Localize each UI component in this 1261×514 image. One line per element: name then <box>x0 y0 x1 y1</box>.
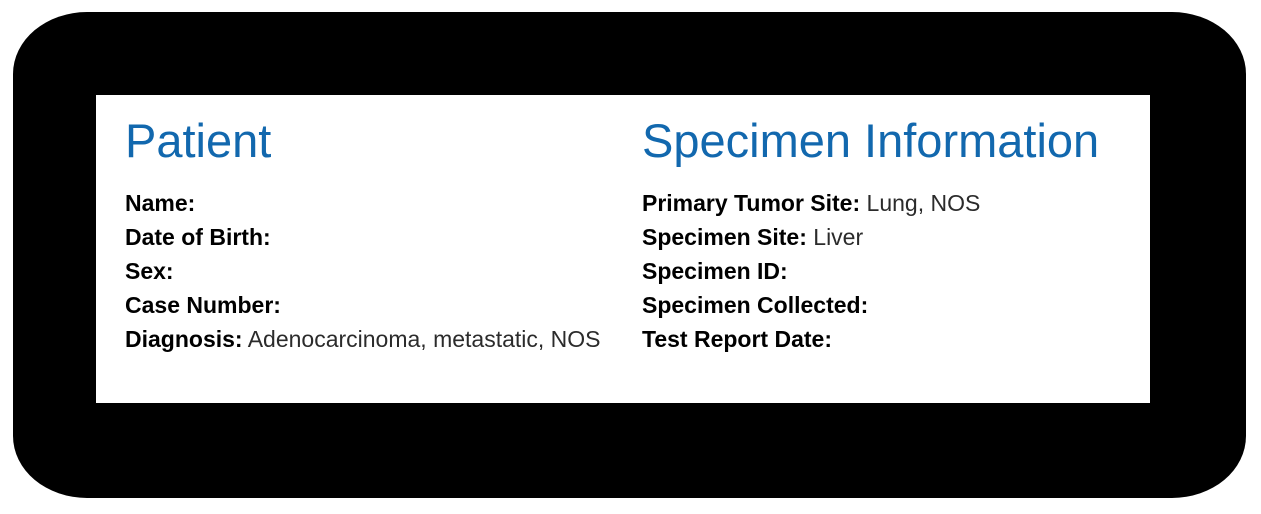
info-label-sex: Sex: <box>125 258 174 284</box>
info-row-sex: Sex: <box>125 254 645 288</box>
info-row-date-of-birth: Date of Birth: <box>125 220 645 254</box>
patient-info-list: Name: Date of Birth: Sex: Case Number: D… <box>125 164 645 356</box>
info-label-test-report-date: Test Report Date: <box>642 326 832 352</box>
info-row-name: Name: <box>125 186 645 220</box>
two-column-layout: Patient Name: Date of Birth: Sex: Case N… <box>96 95 1150 403</box>
info-label-case-number: Case Number: <box>125 292 281 318</box>
info-row-specimen-collected: Specimen Collected: <box>642 288 1142 322</box>
report-panel: Patient Name: Date of Birth: Sex: Case N… <box>96 95 1150 403</box>
info-row-specimen-site: Specimen Site:Liver <box>642 220 1142 254</box>
info-label-specimen-collected: Specimen Collected: <box>642 292 868 318</box>
patient-section-title: Patient <box>125 95 645 164</box>
specimen-info-list: Primary Tumor Site:Lung, NOS Specimen Si… <box>642 164 1142 356</box>
info-value-specimen-site: Liver <box>807 224 863 250</box>
info-label-specimen-id: Specimen ID: <box>642 258 788 284</box>
info-label-diagnosis: Diagnosis: <box>125 326 243 352</box>
info-value-primary-tumor-site: Lung, NOS <box>860 190 980 216</box>
info-value-diagnosis: Adenocarcinoma, metastatic, NOS <box>243 326 601 352</box>
info-row-primary-tumor-site: Primary Tumor Site:Lung, NOS <box>642 186 1142 220</box>
info-row-specimen-id: Specimen ID: <box>642 254 1142 288</box>
specimen-section-title: Specimen Information <box>642 95 1142 164</box>
info-label-name: Name: <box>125 190 195 216</box>
info-label-date-of-birth: Date of Birth: <box>125 224 271 250</box>
specimen-column: Specimen Information Primary Tumor Site:… <box>642 95 1142 356</box>
info-row-diagnosis: Diagnosis:Adenocarcinoma, metastatic, NO… <box>125 322 645 356</box>
patient-column: Patient Name: Date of Birth: Sex: Case N… <box>125 95 645 356</box>
info-label-specimen-site: Specimen Site: <box>642 224 807 250</box>
screenshot-root: Patient Name: Date of Birth: Sex: Case N… <box>0 0 1261 514</box>
info-row-case-number: Case Number: <box>125 288 645 322</box>
info-label-primary-tumor-site: Primary Tumor Site: <box>642 190 860 216</box>
info-row-test-report-date: Test Report Date: <box>642 322 1142 356</box>
